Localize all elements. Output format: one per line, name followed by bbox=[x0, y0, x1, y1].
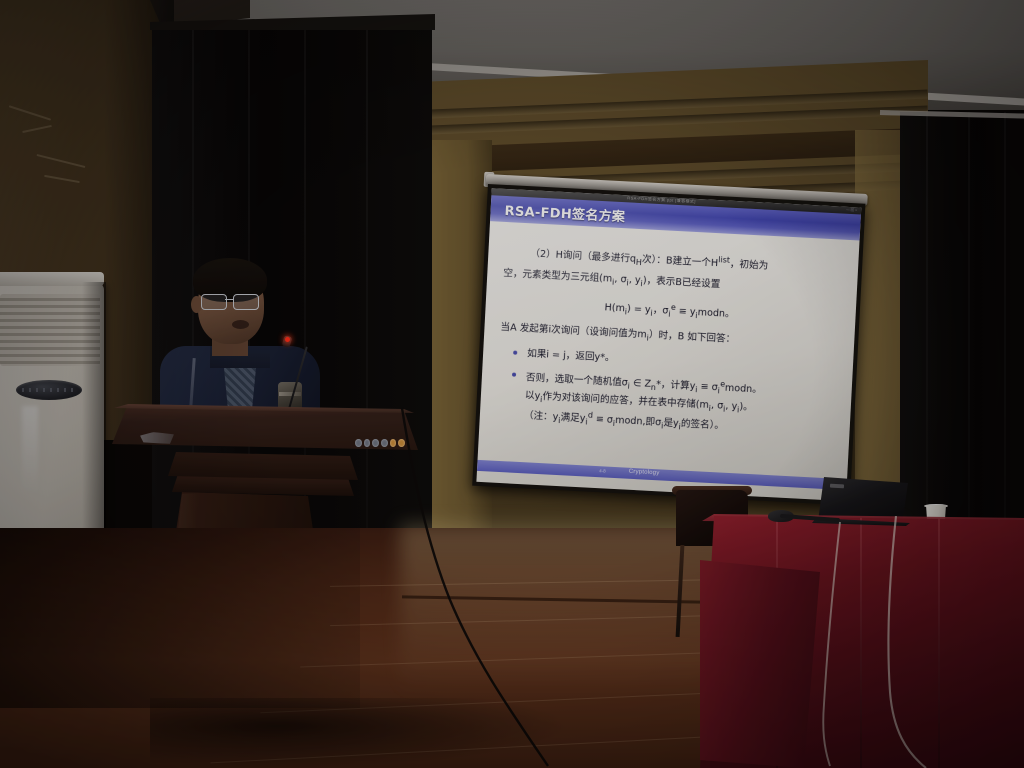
lecture-hall-photo: RSA-FDH签名方案.ppt [兼容模式] — 回 × RSA-FDH签名方案… bbox=[0, 0, 1024, 768]
microphone-led-icon bbox=[285, 337, 290, 342]
projection-screen[interactable]: RSA-FDH签名方案.ppt [兼容模式] — 回 × RSA-FDH签名方案… bbox=[472, 184, 865, 505]
podium-button-amber-1[interactable] bbox=[390, 439, 397, 447]
podium-button-amber-2[interactable] bbox=[398, 439, 405, 447]
laptop-logo-icon bbox=[830, 484, 844, 489]
podium-plinth-1 bbox=[168, 452, 358, 480]
podium-button-4[interactable] bbox=[381, 439, 388, 447]
podium-button-3[interactable] bbox=[372, 439, 379, 447]
microphone-base-ring bbox=[279, 392, 301, 396]
slide-body: （2）H询问（最多进行qH次）：B建立一个Hlist，初始为 空，元素类型为三元… bbox=[478, 228, 860, 479]
podium-button-1[interactable] bbox=[355, 439, 362, 447]
screen-surface: RSA-FDH签名方案.ppt [兼容模式] — 回 × RSA-FDH签名方案… bbox=[476, 188, 861, 501]
table-cloth-drape bbox=[700, 560, 820, 768]
eyeglasses-icon bbox=[200, 294, 262, 309]
ac-panel-indicators bbox=[22, 388, 76, 392]
speaker-mouth bbox=[232, 320, 249, 329]
window-controls: — 回 × bbox=[846, 208, 857, 214]
podium-floor-shadow bbox=[150, 698, 570, 768]
ac-highlight bbox=[22, 406, 38, 496]
podium-button-2[interactable] bbox=[364, 439, 371, 447]
slide-page-number: 4-8 bbox=[599, 468, 606, 473]
podium-control-panel[interactable] bbox=[355, 438, 405, 448]
floor-shadow-left bbox=[0, 528, 360, 708]
slide-footer-label: Cryptology bbox=[629, 469, 660, 477]
